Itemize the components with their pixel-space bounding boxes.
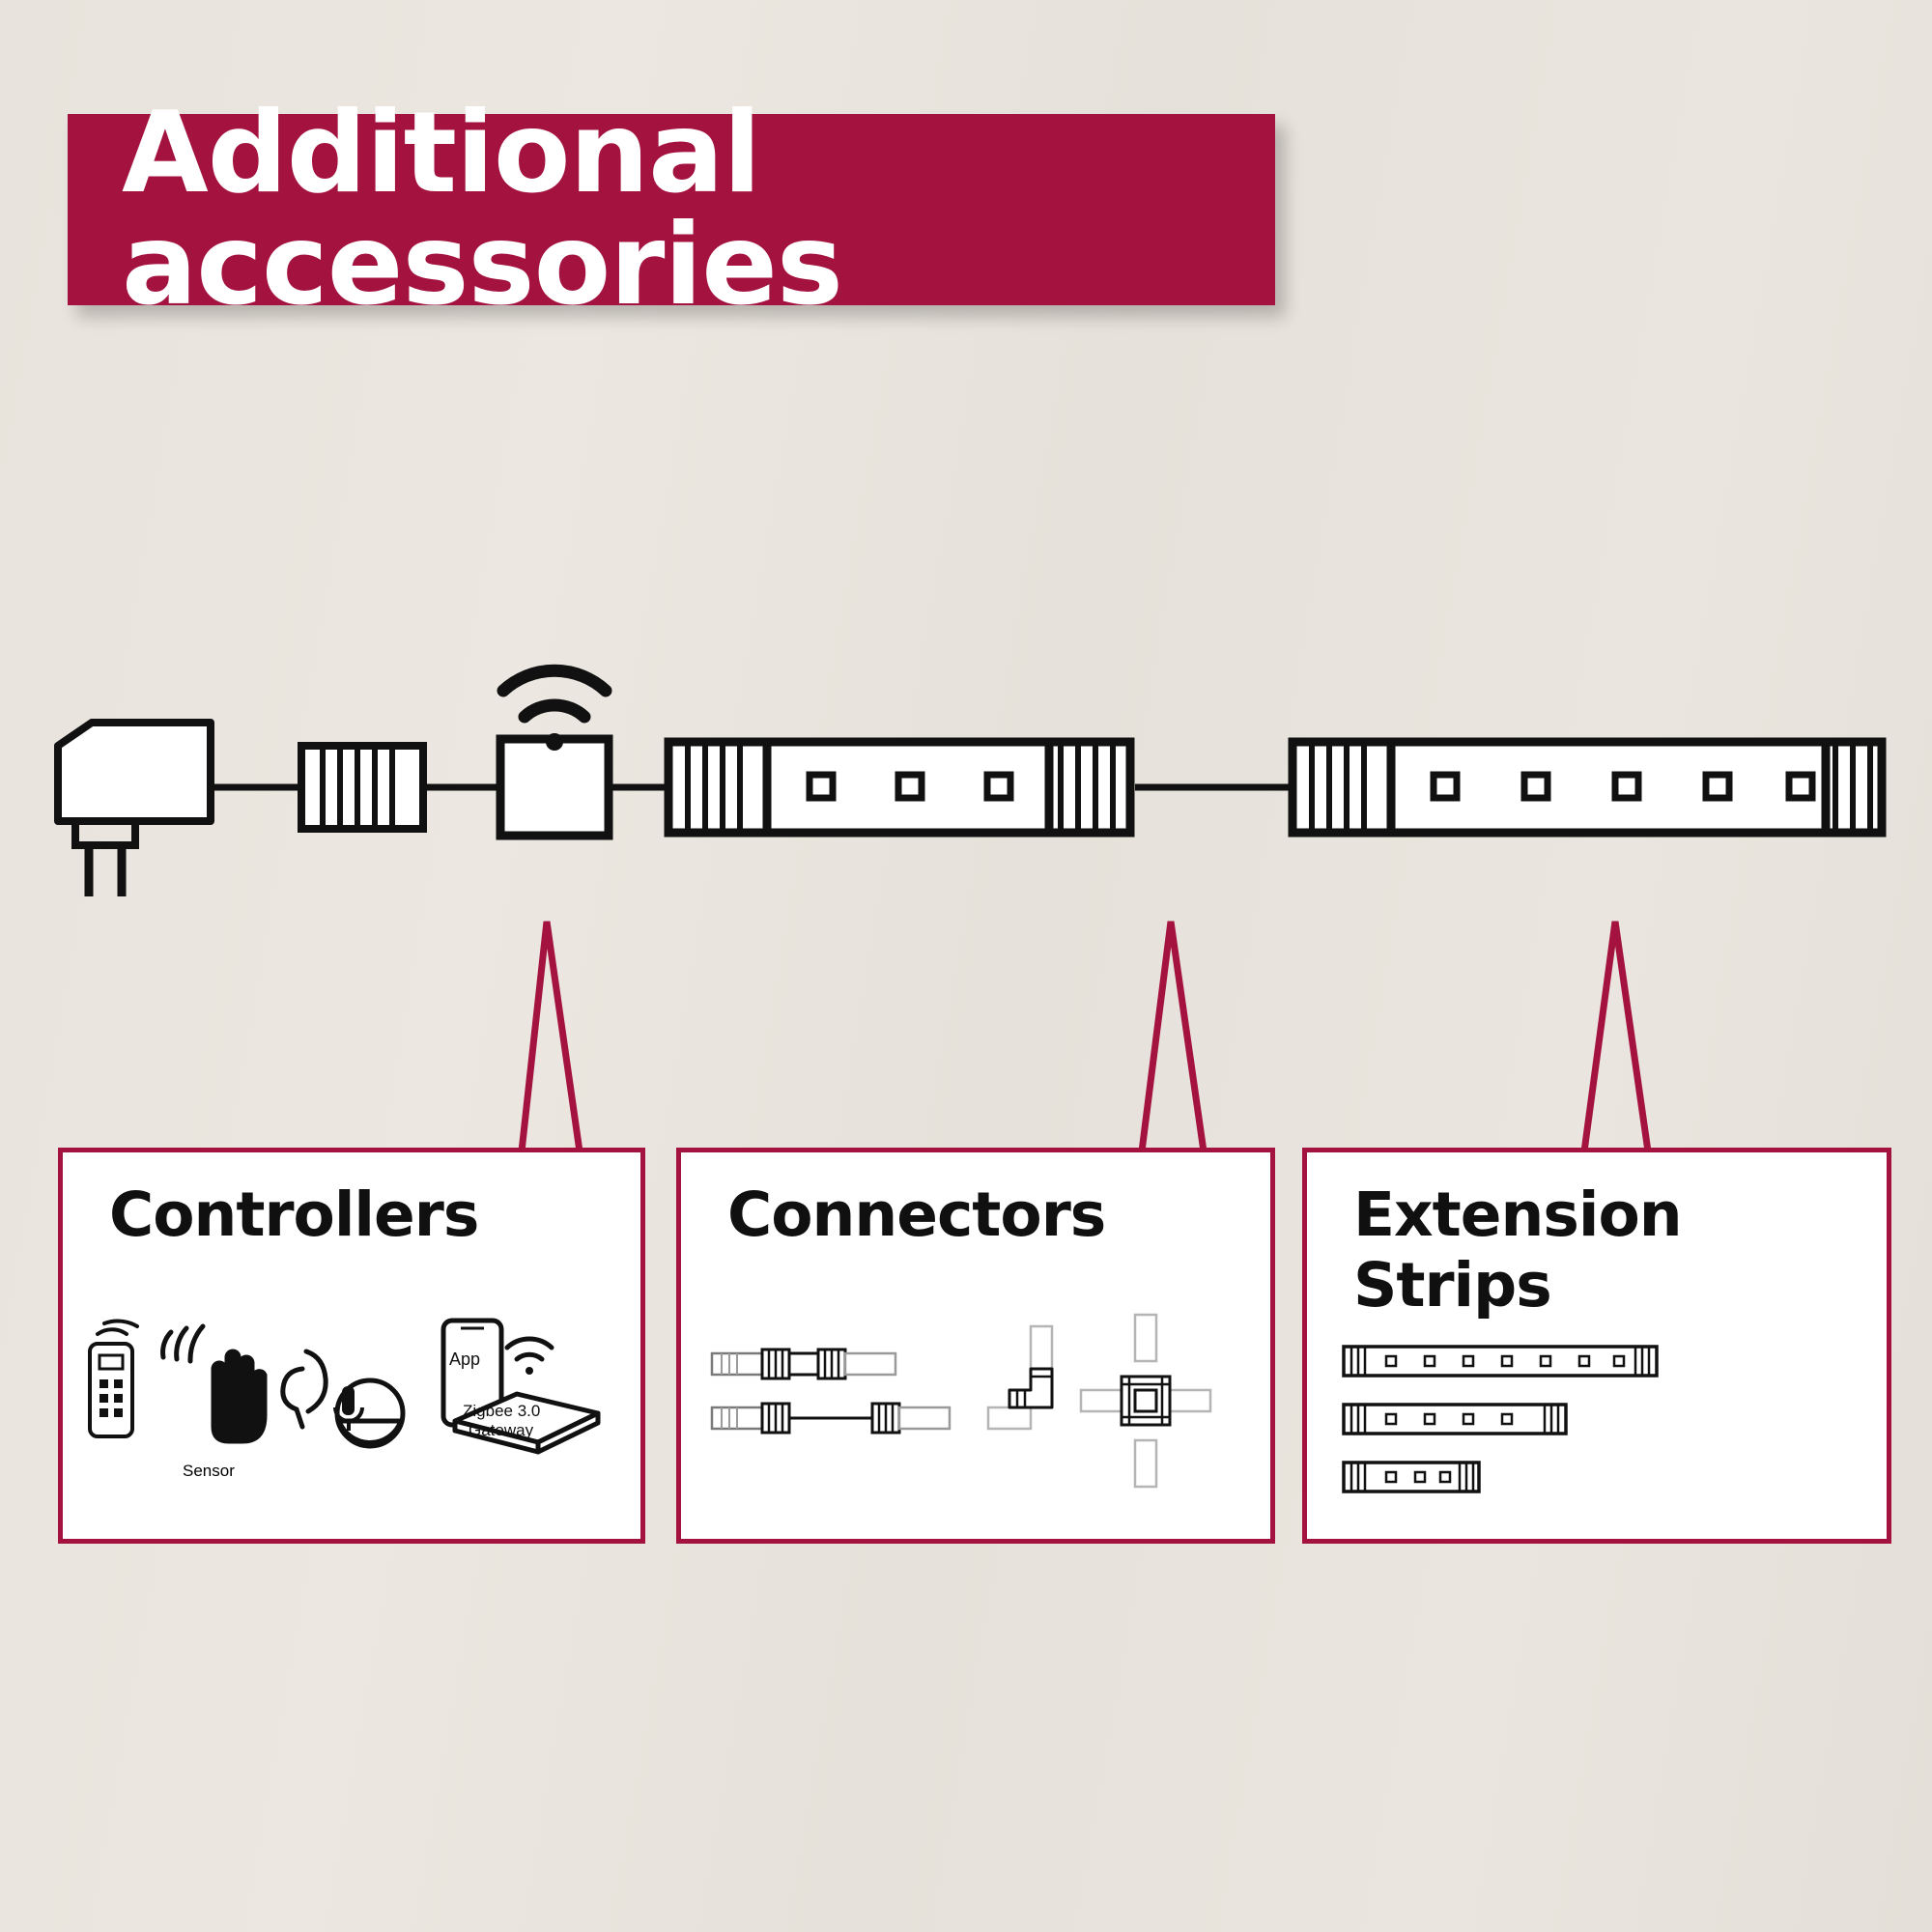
power-supply-icon bbox=[58, 723, 211, 896]
card-controllers-title: Controllers bbox=[109, 1179, 478, 1250]
extension-strip-medium-icon bbox=[1344, 1405, 1566, 1434]
page-title: Additional accessories bbox=[122, 98, 1275, 322]
extension-strips-icon-row bbox=[1307, 1312, 1896, 1524]
controllers-icon-row: Sensor App bbox=[63, 1297, 650, 1539]
remote-control-icon bbox=[90, 1321, 137, 1436]
card-connectors-title: Connectors bbox=[727, 1179, 1105, 1250]
cross-connector-icon bbox=[1081, 1315, 1210, 1487]
zigbee-gateway-label-line1: Zigbee 3.0 bbox=[463, 1402, 540, 1420]
led-strip-1-icon bbox=[668, 742, 1130, 833]
system-chain-diagram bbox=[0, 638, 1932, 927]
extension-strip-short-icon bbox=[1344, 1463, 1479, 1492]
led-strip-2-icon bbox=[1293, 742, 1882, 833]
card-controllers[interactable]: Controllers bbox=[58, 1148, 645, 1544]
spike-extension-strips bbox=[1584, 922, 1648, 1150]
connectors-icon-row bbox=[681, 1307, 1280, 1529]
app-label: App bbox=[449, 1350, 480, 1369]
spike-connectors bbox=[1142, 922, 1204, 1150]
callout-spikes bbox=[0, 898, 1932, 1150]
card-extension-strips[interactable]: Extension Strips bbox=[1302, 1148, 1891, 1544]
voice-assistant-icon bbox=[283, 1351, 403, 1446]
card-connectors[interactable]: Connectors bbox=[676, 1148, 1275, 1544]
title-banner: Additional accessories bbox=[68, 114, 1275, 305]
corner-connector-icon bbox=[988, 1326, 1052, 1429]
wifi-small-icon bbox=[507, 1339, 552, 1375]
wifi-controller-icon bbox=[500, 739, 609, 836]
straight-connector-icon bbox=[712, 1350, 950, 1433]
extension-strip-long-icon bbox=[1344, 1347, 1657, 1376]
sensor-label: Sensor bbox=[183, 1462, 235, 1480]
diagram-canvas: Additional accessories bbox=[0, 0, 1932, 1932]
zigbee-gateway-label-line2: Gateway bbox=[469, 1421, 534, 1439]
strip-connector-1-icon bbox=[301, 746, 423, 829]
spike-controllers bbox=[522, 922, 580, 1150]
motion-sensor-hand-icon bbox=[163, 1326, 266, 1442]
card-extension-strips-title: Extension Strips bbox=[1353, 1179, 1887, 1321]
